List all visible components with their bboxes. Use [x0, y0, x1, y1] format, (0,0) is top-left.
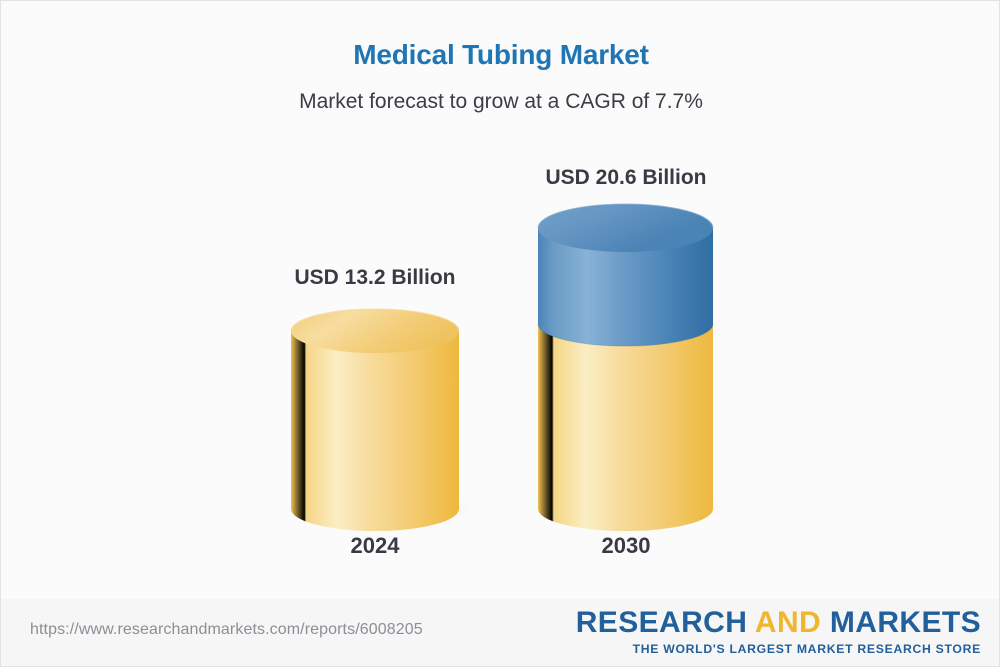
logo-word-and: AND	[755, 606, 821, 639]
value-label-2024: USD 13.2 Billion	[175, 266, 575, 290]
logo-word-research: RESEARCH	[576, 606, 748, 639]
logo-wordmark: RESEARCH AND MARKETS	[576, 607, 981, 639]
report-url[interactable]: https://www.researchandmarkets.com/repor…	[30, 621, 423, 639]
bar-cylinder-2030[interactable]	[538, 204, 713, 531]
bar-body-2024	[291, 331, 459, 531]
category-label-2030: 2030	[426, 533, 826, 559]
cylinder-bar-chart-svg	[1, 1, 1000, 601]
chart-plot-area: USD 13.2 Billion USD 20.6 Billion 2024 2…	[1, 1, 1000, 601]
chart-canvas: Medical Tubing Market Market forecast to…	[0, 0, 1000, 667]
logo-word-markets: MARKETS	[830, 606, 981, 639]
logo-tagline: THE WORLD'S LARGEST MARKET RESEARCH STOR…	[576, 642, 981, 656]
bar-cylinder-2024[interactable]	[291, 309, 459, 531]
value-label-2030: USD 20.6 Billion	[426, 166, 826, 190]
footer: https://www.researchandmarkets.com/repor…	[1, 599, 1000, 666]
bar-body-base-2030	[538, 324, 713, 531]
research-and-markets-logo[interactable]: RESEARCH AND MARKETS THE WORLD'S LARGEST…	[576, 607, 981, 656]
